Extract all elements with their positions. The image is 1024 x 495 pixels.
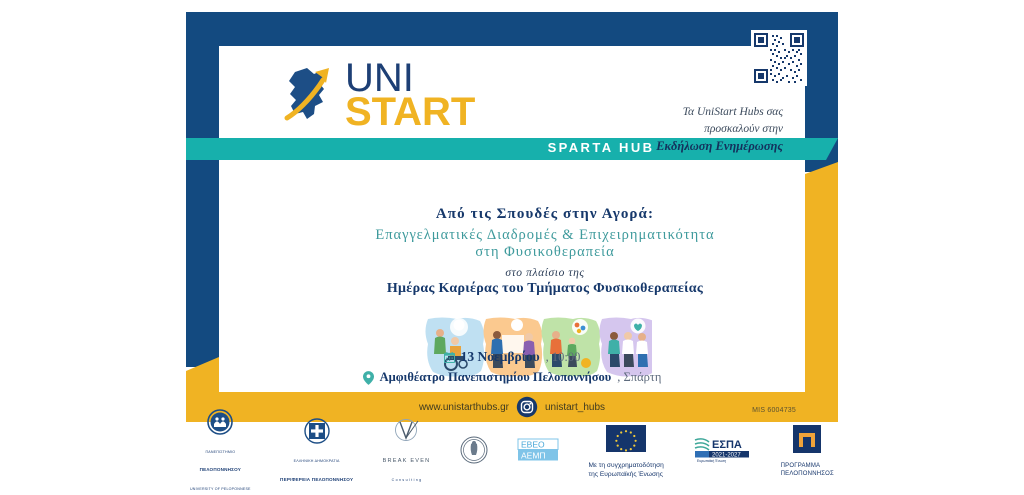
- eveo-lemp-icon: EBEO AEMΠ: [517, 437, 559, 468]
- espa-icon: ΕΣΠΑ 2021-2027 Ευρωπαϊκή Ένωση: [693, 436, 751, 469]
- invitation-text: Τα UniStart Hubs σας προσκαλούν στην Εκδ…: [656, 104, 783, 155]
- footer-website[interactable]: www.unistarthubs.gr: [419, 402, 509, 413]
- sponsor-logos-band: ΠΑΝΕΠΙΣΤΗΜΙΟ ΠΕΛΟΠΟΝΝΗΣΟΥ UNIVERSITY OF …: [186, 428, 838, 476]
- espa-period: 2021-2027: [712, 452, 741, 458]
- footer-instagram-handle[interactable]: unistart_hubs: [545, 402, 605, 413]
- poster-page: UNI START Από τις Σπουδές στην Αγορά: Επ…: [0, 0, 1024, 480]
- espa-title: ΕΣΠΑ: [712, 439, 742, 451]
- frame-top-bar: [186, 12, 838, 46]
- title-block: Από τις Σπουδές στην Αγορά: Επαγγελματικ…: [219, 206, 805, 297]
- qr-code[interactable]: [751, 30, 807, 86]
- logo-break-even-consulting: BREAK EVEN C o n s u l t i n g: [383, 418, 431, 486]
- svg-text:AEMΠ: AEMΠ: [521, 450, 546, 460]
- eu-caption-line-1: Με τη συγχρηματοδότηση: [589, 462, 664, 469]
- logo-region-of-peloponnese: ΕΛΛΗΝΙΚΗ ΔΗΜΟΚΡΑΤΙΑ ΠΕΡΙΦΕΡΕΙΑ ΠΕΛΟΠΟΝΝΗ…: [280, 418, 353, 486]
- event-time: , 10:00: [546, 350, 581, 365]
- event-location-row: Αμφιθέατρο Πανεπιστημίου Πελοποννήσου , …: [186, 370, 838, 385]
- uop-caption-sub: UNIVERSITY OF PELOPONNESE: [190, 487, 251, 491]
- logo-eveo-lemp: EBEO AEMΠ: [517, 437, 559, 468]
- footer-strip: www.unistarthubs.gr unistart_hubs: [186, 392, 838, 422]
- event-details: 13 Νοεμβρίου , 10:00 Αμφιθέατρο Πανεπιστ…: [186, 349, 838, 390]
- event-city: , Σπάρτη: [617, 370, 661, 385]
- break-even-caption-main: BREAK EVEN: [383, 458, 431, 464]
- logo-uni-text: UNI: [345, 58, 475, 92]
- location-pin-icon: [363, 371, 374, 385]
- title-line-4: στο πλαίσιο της: [219, 267, 805, 279]
- frame-left-bar: [186, 12, 219, 367]
- invitation-line-3: Εκδήλωση Ενημέρωσης: [656, 137, 783, 155]
- title-line-3: στη Φυσικοθεραπεία: [219, 244, 805, 261]
- programme-caption-line-1: ΠΡΟΓΡΑΜΜΑ: [781, 463, 821, 469]
- svg-text:Ευρωπαϊκή Ένωση: Ευρωπαϊκή Ένωση: [697, 459, 726, 463]
- unistart-wordmark: UNI START: [345, 58, 475, 132]
- uop-caption-top: ΠΑΝΕΠΙΣΤΗΜΙΟ: [205, 450, 235, 454]
- instagram-icon[interactable]: [516, 396, 538, 418]
- title-line-1: Από τις Σπουδές στην Αγορά:: [219, 206, 805, 223]
- eu-caption-line-2: της Ευρωπαϊκής Ένωσης: [589, 471, 663, 478]
- european-union-flag-icon: [606, 425, 646, 457]
- poster-canvas: UNI START Από τις Σπουδές στην Αγορά: Επ…: [219, 46, 805, 392]
- poster-frame: UNI START Από τις Σπουδές στην Αγορά: Επ…: [186, 12, 838, 422]
- region-of-peloponnese-icon: [304, 418, 330, 449]
- svg-text:EBEO: EBEO: [521, 439, 545, 449]
- region-caption-main: ΠΕΡΙΦΕΡΕΙΑ ΠΕΛΟΠΟΝΝΗΣΟΥ: [280, 477, 353, 482]
- calendar-icon: [444, 352, 455, 363]
- event-venue: Αμφιθέατρο Πανεπιστημίου Πελοποννήσου: [380, 370, 612, 385]
- title-line-5: Ημέρας Καριέρας του Τμήματος Φυσικοθεραπ…: [219, 281, 805, 297]
- uop-caption-main: ΠΕΛΟΠΟΝΝΗΣΟΥ: [200, 467, 241, 472]
- footer-mis-code: MIS 6004735: [752, 407, 796, 414]
- break-even-icon: [391, 418, 421, 449]
- event-date: 13 Νοεμβρίου: [461, 349, 540, 365]
- logo-start-text: START: [345, 92, 475, 132]
- unistart-logo: UNI START: [281, 58, 475, 132]
- logo-european-union: Με τη συγχρηματοδότηση της Ευρωπαϊκής Έν…: [589, 425, 664, 479]
- event-date-row: 13 Νοεμβρίου , 10:00: [186, 349, 838, 365]
- ntua-seal-icon: [460, 436, 488, 469]
- greece-map-arrow-icon: [281, 62, 343, 128]
- logo-programme-peloponnese: ΠΡΟΓΡΑΜΜΑ ΠΕΛΟΠΟΝΝΗΣΟΣ: [781, 425, 834, 479]
- programme-caption-line-2: ΠΕΛΟΠΟΝΝΗΣΟΣ: [781, 471, 834, 477]
- invitation-line-1: Τα UniStart Hubs σας: [656, 104, 783, 121]
- title-line-2: Επαγγελματικές Διαδρομές & Επιχειρηματικ…: [219, 227, 805, 244]
- logo-espa: ΕΣΠΑ 2021-2027 Ευρωπαϊκή Ένωση: [693, 436, 751, 469]
- logo-national-technical-university: [460, 436, 488, 469]
- invitation-line-2: προσκαλούν στην: [656, 121, 783, 138]
- programme-peloponnese-icon: [793, 425, 821, 458]
- region-caption-top: ΕΛΛΗΝΙΚΗ ΔΗΜΟΚΡΑΤΙΑ: [294, 459, 340, 463]
